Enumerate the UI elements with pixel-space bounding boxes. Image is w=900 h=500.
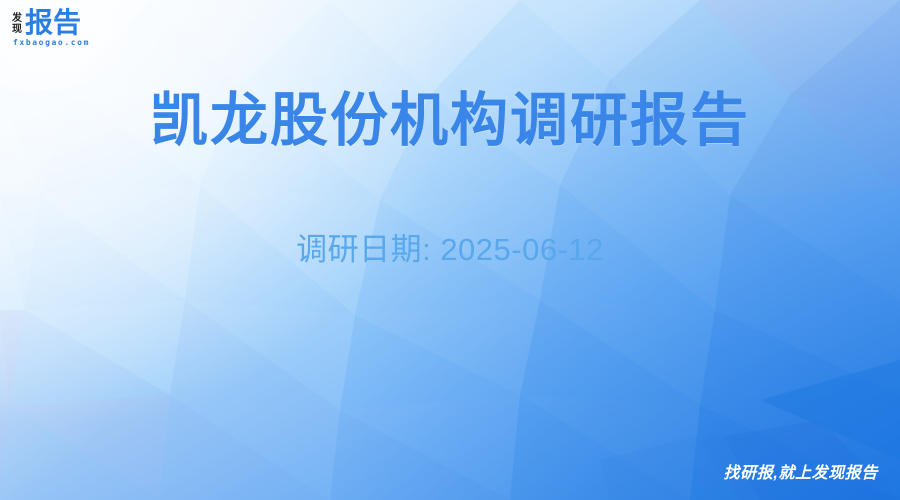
logo-wordmark: 报告 [25, 9, 81, 37]
survey-date-subtitle: 调研日期: 2025-06-12 [0, 231, 900, 269]
headline-block: 凯龙股份机构调研报告 [0, 86, 900, 156]
page-title: 凯龙股份机构调研报告 [0, 86, 900, 156]
logo-wordmark-row: 发 现 报告 [12, 9, 81, 37]
logo-mark-top: 发 [12, 13, 22, 24]
report-cover: 发 现 报告 fxbaogao.com 凯龙股份机构调研报告 调研日期: 202… [0, 0, 900, 500]
logo-mark-bottom: 现 [12, 24, 22, 35]
logo-url: fxbaogao.com [13, 39, 90, 47]
brand-slogan-watermark: 找研报,就上发现报告 [724, 464, 878, 484]
site-logo[interactable]: 发 现 报告 fxbaogao.com [12, 9, 90, 47]
logo-mark: 发 现 [12, 13, 22, 37]
